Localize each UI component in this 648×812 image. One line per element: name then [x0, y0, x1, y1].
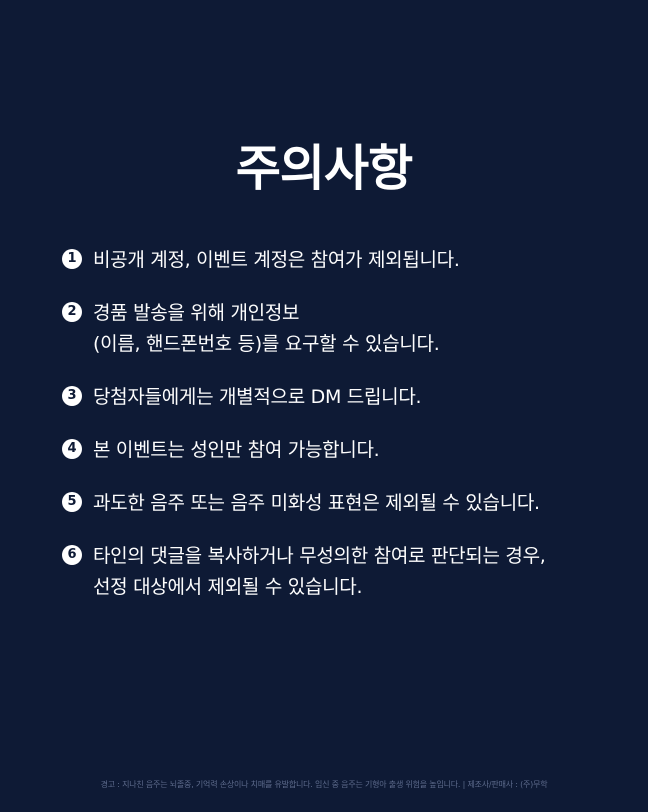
list-item-line: 당첨자들에게는 개별적으로 DM 드립니다. [93, 382, 602, 413]
list-item: 3 당첨자들에게는 개별적으로 DM 드립니다. [62, 382, 602, 413]
list-item-line: (이름, 핸드폰번호 등)를 요구할 수 있습니다. [93, 329, 602, 360]
list-item-line: 비공개 계정, 이벤트 계정은 참여가 제외됩니다. [93, 245, 602, 276]
list-item: 1 비공개 계정, 이벤트 계정은 참여가 제외됩니다. [62, 245, 602, 276]
list-item-body: 비공개 계정, 이벤트 계정은 참여가 제외됩니다. [93, 245, 602, 276]
list-item: 4 본 이벤트는 성인만 참여 가능합니다. [62, 435, 602, 466]
list-item-body: 당첨자들에게는 개별적으로 DM 드립니다. [93, 382, 602, 413]
list-marker-number-icon: 6 [62, 545, 82, 565]
notice-list: 1 비공개 계정, 이벤트 계정은 참여가 제외됩니다. 2 경품 발송을 위해… [62, 245, 602, 603]
list-marker-number-icon: 1 [62, 249, 82, 269]
list-item-body: 본 이벤트는 성인만 참여 가능합니다. [93, 435, 602, 466]
list-item-line: 경품 발송을 위해 개인정보 [93, 298, 602, 329]
list-marker-number-icon: 3 [62, 386, 82, 406]
list-marker-number-icon: 2 [62, 302, 82, 322]
list-item-body: 경품 발송을 위해 개인정보 (이름, 핸드폰번호 등)를 요구할 수 있습니다… [93, 298, 602, 360]
list-marker-number-icon: 5 [62, 492, 82, 512]
list-item-line: 과도한 음주 또는 음주 미화성 표현은 제외될 수 있습니다. [93, 488, 602, 519]
page-title: 주의사항 [236, 143, 412, 194]
list-item: 2 경품 발송을 위해 개인정보 (이름, 핸드폰번호 등)를 요구할 수 있습… [62, 298, 602, 360]
list-item-line: 타인의 댓글을 복사하거나 무성의한 참여로 판단되는 경우, [93, 541, 602, 572]
list-item-body: 과도한 음주 또는 음주 미화성 표현은 제외될 수 있습니다. [93, 488, 602, 519]
list-marker-number-icon: 4 [62, 439, 82, 459]
footer: 경고 : 지나친 음주는 뇌졸중, 기억력 손상이나 치매를 유발합니다. 임신… [0, 772, 648, 791]
list-item-line: 선정 대상에서 제외될 수 있습니다. [93, 572, 602, 603]
list-item-line: 본 이벤트는 성인만 참여 가능합니다. [93, 435, 602, 466]
list-item: 6 타인의 댓글을 복사하거나 무성의한 참여로 판단되는 경우, 선정 대상에… [62, 541, 602, 603]
list-item-body: 타인의 댓글을 복사하거나 무성의한 참여로 판단되는 경우, 선정 대상에서 … [93, 541, 602, 603]
page-title-container: 주의사항 [0, 143, 648, 194]
notice-poster: 주의사항 1 비공개 계정, 이벤트 계정은 참여가 제외됩니다. 2 경품 발… [0, 0, 648, 812]
list-item: 5 과도한 음주 또는 음주 미화성 표현은 제외될 수 있습니다. [62, 488, 602, 519]
legal-warning-text: 경고 : 지나친 음주는 뇌졸중, 기억력 손상이나 치매를 유발합니다. 임신… [101, 779, 548, 791]
